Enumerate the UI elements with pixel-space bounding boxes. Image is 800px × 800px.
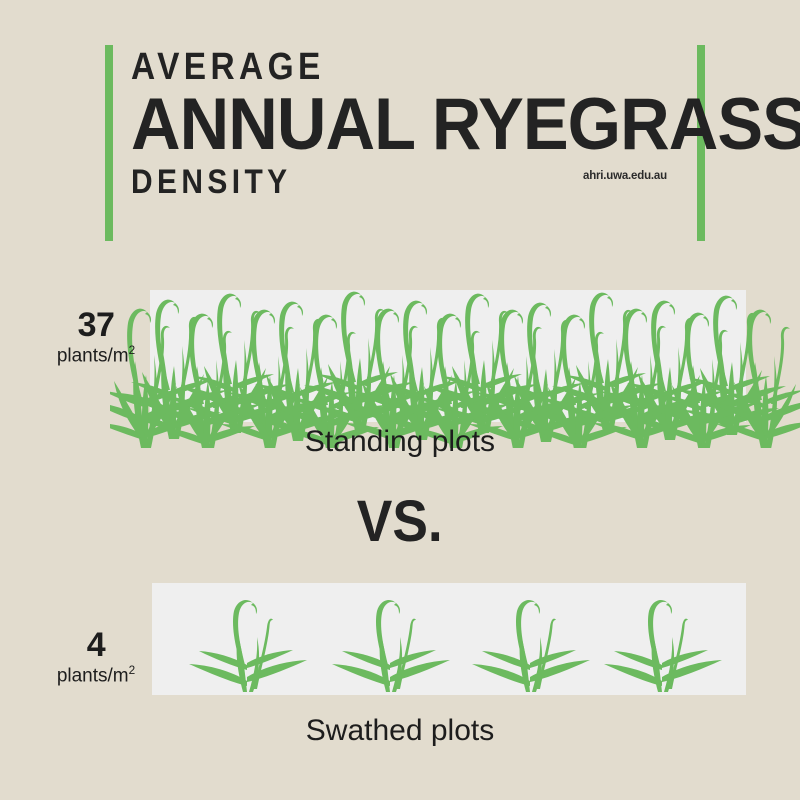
standing-plots-unit: plants/m2	[34, 345, 158, 365]
title-line-density: Density	[131, 165, 624, 199]
standing-plots-number: 37	[34, 308, 158, 342]
versus-separator: VS.	[0, 493, 800, 551]
title-line-annual-ryegrass: Annual Ryegrass	[131, 88, 657, 161]
swathed-plots-caption: Swathed plots	[0, 714, 800, 748]
standing-plots-panel	[150, 290, 746, 422]
title-line-average: Average	[131, 48, 624, 86]
swathed-plots-value: 4 plants/m2	[34, 628, 158, 685]
standing-plots-caption: Standing plots	[0, 425, 800, 459]
header: Average Annual Ryegrass Density ahri.uwa…	[0, 0, 800, 250]
infographic-canvas: Average Annual Ryegrass Density ahri.uwa…	[0, 0, 800, 800]
standing-plots-value: 37 plants/m2	[34, 308, 158, 365]
swathed-plots-panel	[152, 583, 746, 695]
header-rule-left	[105, 45, 113, 241]
swathed-plots-unit-exponent: 2	[129, 664, 136, 677]
standing-plots-unit-exponent: 2	[129, 344, 136, 357]
versus-label: VS.	[357, 493, 443, 551]
source-url: ahri.uwa.edu.au	[583, 170, 667, 182]
swathed-plots-unit-text: plants/m	[57, 665, 129, 686]
swathed-plots-unit: plants/m2	[34, 665, 158, 685]
swathed-plots-number: 4	[34, 628, 158, 662]
standing-plots-unit-text: plants/m	[57, 345, 129, 366]
